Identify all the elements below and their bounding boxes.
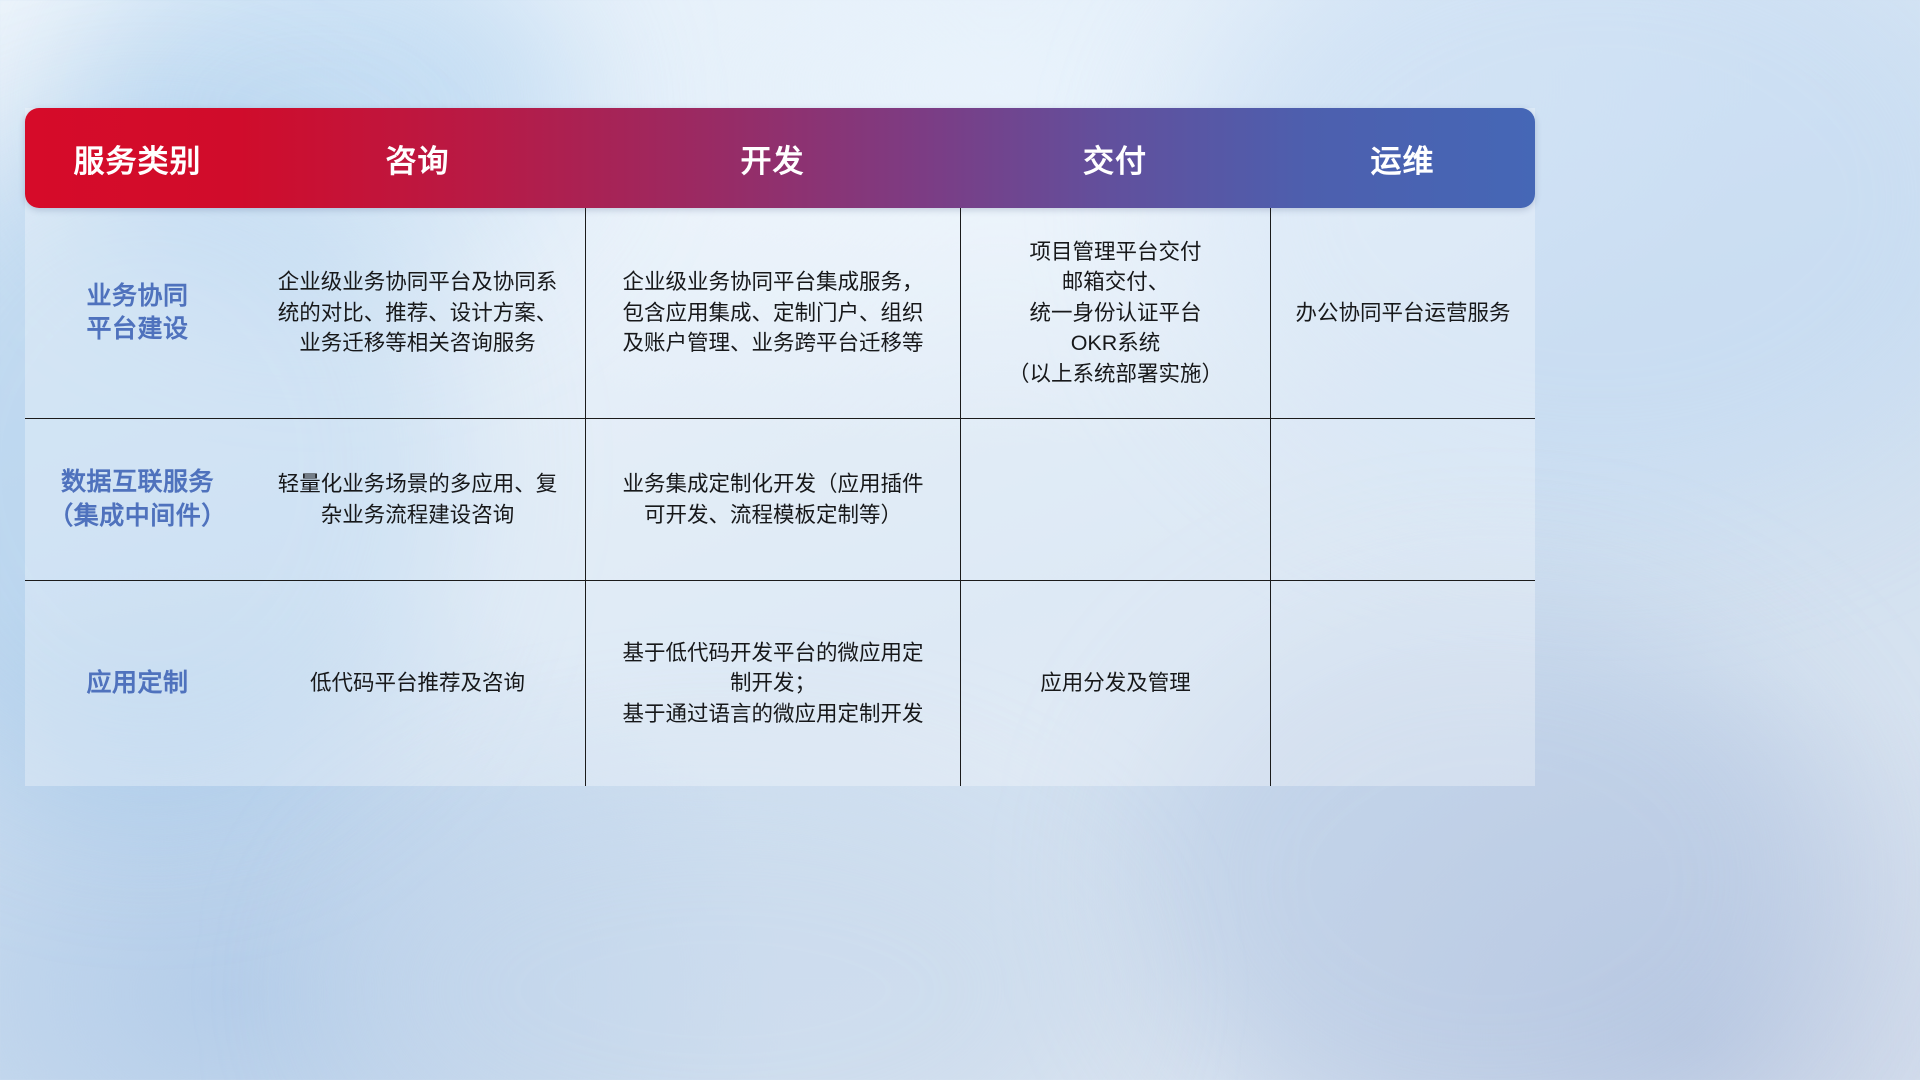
table-body: 业务协同 平台建设 企业级业务协同平台及协同系 统的对比、推荐、设计方案、 业务… — [25, 208, 1535, 786]
row-category-label: 应用定制 — [25, 581, 250, 786]
header-cell-operations: 运维 — [1270, 136, 1535, 181]
cell-consulting: 低代码平台推荐及咨询 — [250, 581, 585, 786]
header-cell-service-category: 服务类别 — [25, 136, 250, 181]
header-cell-consulting: 咨询 — [250, 136, 585, 181]
table-row: 应用定制 低代码平台推荐及咨询 基于低代码开发平台的微应用定 制开发； 基于通过… — [25, 580, 1535, 786]
cell-consulting: 轻量化业务场景的多应用、复 杂业务流程建设咨询 — [250, 419, 585, 580]
cell-development: 企业级业务协同平台集成服务， 包含应用集成、定制门户、组织 及账户管理、业务跨平… — [585, 208, 960, 418]
cell-development: 基于低代码开发平台的微应用定 制开发； 基于通过语言的微应用定制开发 — [585, 581, 960, 786]
row-category-label: 业务协同 平台建设 — [25, 208, 250, 418]
cell-development: 业务集成定制化开发（应用插件 可开发、流程模板定制等） — [585, 419, 960, 580]
table-header-row: 服务类别 咨询 开发 交付 运维 — [25, 108, 1535, 208]
service-matrix-table: 服务类别 咨询 开发 交付 运维 业务协同 平台建设 企业级业务协同平台及协同系… — [25, 108, 1535, 786]
cell-consulting: 企业级业务协同平台及协同系 统的对比、推荐、设计方案、 业务迁移等相关咨询服务 — [250, 208, 585, 418]
cell-operations — [1270, 581, 1535, 786]
cell-delivery: 项目管理平台交付 邮箱交付、 统一身份认证平台 OKR系统 （以上系统部署实施） — [960, 208, 1270, 418]
cell-delivery: 应用分发及管理 — [960, 581, 1270, 786]
header-cell-delivery: 交付 — [960, 136, 1270, 181]
table-row: 数据互联服务 （集成中间件） 轻量化业务场景的多应用、复 杂业务流程建设咨询 业… — [25, 418, 1535, 580]
cell-delivery — [960, 419, 1270, 580]
background-blob-bottom — [340, 780, 1100, 1080]
cell-operations — [1270, 419, 1535, 580]
table-row: 业务协同 平台建设 企业级业务协同平台及协同系 统的对比、推荐、设计方案、 业务… — [25, 208, 1535, 418]
row-category-label: 数据互联服务 （集成中间件） — [25, 419, 250, 580]
cell-operations: 办公协同平台运营服务 — [1270, 208, 1535, 418]
header-cell-development: 开发 — [585, 136, 960, 181]
